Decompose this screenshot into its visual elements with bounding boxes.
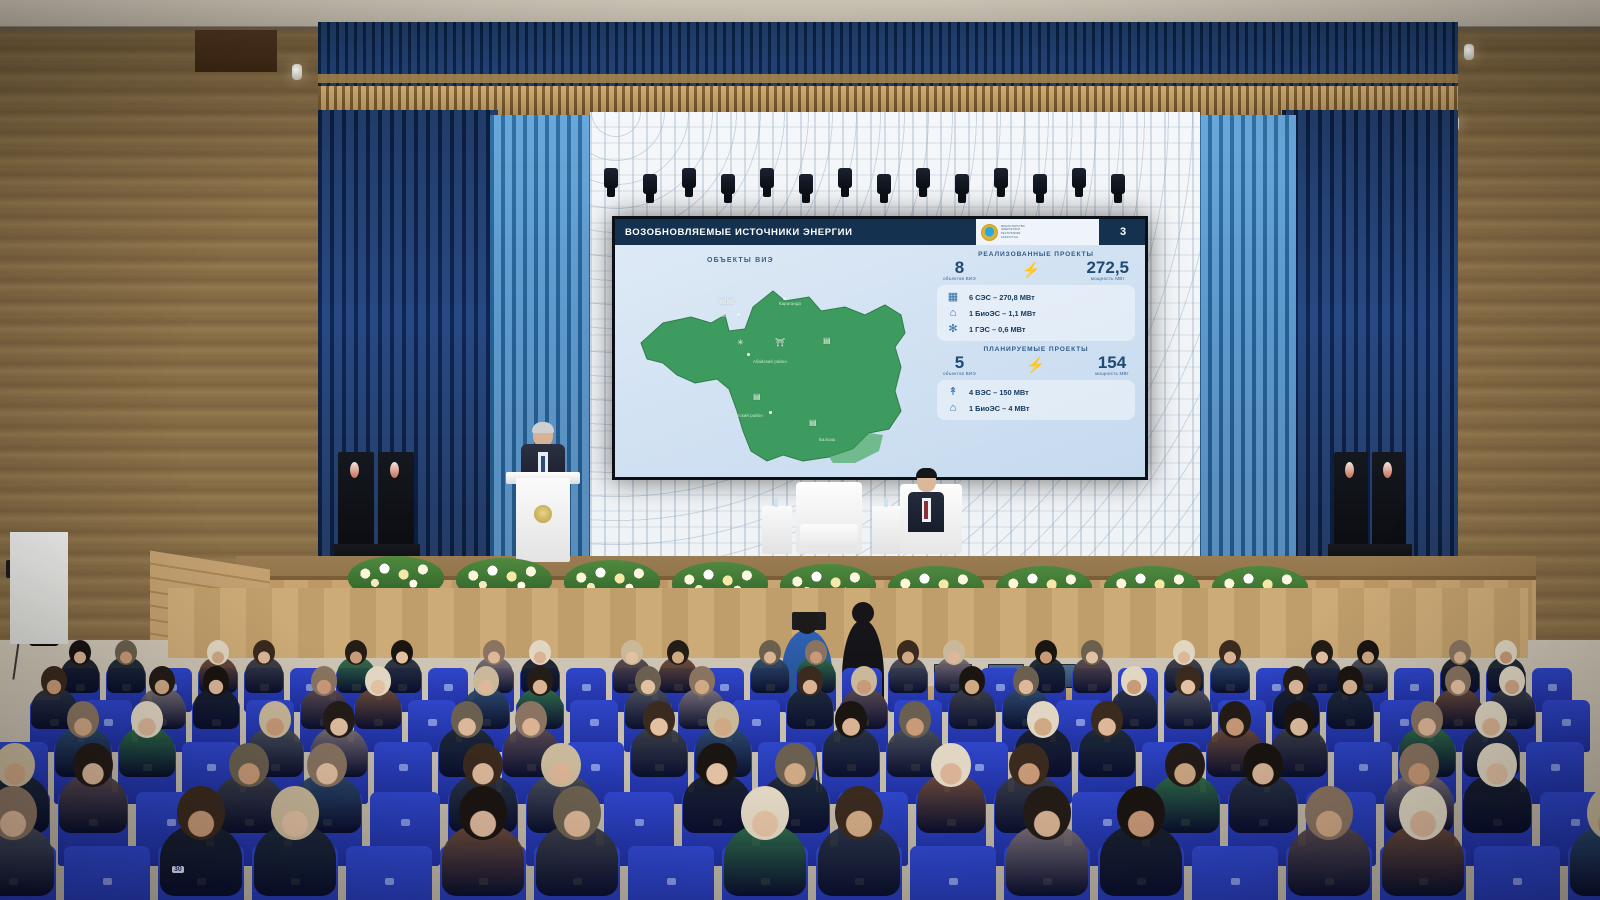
solar-panel-icon: ▤▤ bbox=[719, 297, 734, 305]
curtain-navy-right bbox=[1282, 110, 1458, 580]
stage-light bbox=[760, 168, 774, 188]
audience-member-head bbox=[707, 701, 739, 737]
realized-count: 8 bbox=[943, 259, 976, 276]
audience-member-head bbox=[177, 786, 225, 840]
audience-member-head bbox=[897, 640, 919, 665]
side-table bbox=[872, 506, 902, 554]
audience-member-head bbox=[1035, 640, 1057, 665]
audience-member-head bbox=[1475, 701, 1507, 737]
realized-power-block: 272,5 мощность МВт bbox=[1086, 259, 1129, 281]
audience-member-head bbox=[1357, 640, 1379, 665]
audience-member-head bbox=[253, 640, 275, 665]
bio-plant-icon: ⌂ bbox=[943, 403, 963, 414]
map-label-balkhash: Балхаш bbox=[819, 437, 835, 442]
bio-plant-icon: ⌂ bbox=[943, 308, 963, 319]
planned-count-block: 5 объектов ВИЭ bbox=[943, 354, 976, 376]
led-presentation-screen: ВОЗОБНОВЛЯЕМЫЕ ИСТОЧНИКИ ЭНЕРГИИ МИНИСТЕ… bbox=[612, 216, 1148, 480]
audience-member-head bbox=[323, 701, 355, 737]
solar-flower-icon: ✳ bbox=[737, 339, 744, 347]
stage-light bbox=[955, 174, 969, 194]
realized-count-label: объектов ВИЭ bbox=[943, 276, 976, 281]
audience-member-head bbox=[775, 743, 814, 787]
audience-member-head bbox=[943, 640, 965, 665]
map-city-dot bbox=[737, 313, 740, 316]
planned-count-label: объектов ВИЭ bbox=[943, 371, 976, 376]
planned-row: ⌂ 1 БиоЭС – 4 МВт bbox=[943, 400, 1129, 416]
audience-member-head bbox=[391, 640, 413, 665]
audience-member-head bbox=[529, 640, 551, 665]
hydro-gear-icon: ✻ bbox=[943, 324, 963, 335]
seat-number-badge: 30 bbox=[172, 866, 184, 873]
audience-member-head bbox=[1027, 701, 1059, 737]
stage-light bbox=[682, 168, 696, 188]
audience-member-head bbox=[515, 701, 547, 737]
audience-member-head bbox=[1009, 743, 1048, 787]
realized-power-label: мощность МВт bbox=[1086, 276, 1129, 281]
standing-attendee-head bbox=[852, 602, 874, 624]
audience-member-head bbox=[131, 701, 163, 737]
map-label-shet: Шетский район bbox=[731, 413, 763, 418]
auditorium-seat[interactable] bbox=[628, 846, 714, 900]
audience-member-head bbox=[1173, 640, 1195, 665]
audience-member-head bbox=[69, 640, 91, 665]
projects-panel: РЕАЛИЗОВАННЫЕ ПРОЕКТЫ 8 объектов ВИЭ ⚡ 2… bbox=[937, 251, 1135, 420]
audience-member-head bbox=[307, 743, 346, 787]
audience-member-head bbox=[67, 701, 99, 737]
audience-member-head bbox=[621, 640, 643, 665]
audience-member-head bbox=[899, 701, 931, 737]
audience-member-head bbox=[643, 701, 675, 737]
pa-horn bbox=[350, 462, 359, 478]
water-bottle bbox=[774, 498, 778, 507]
audience-member-head bbox=[1411, 701, 1443, 737]
audience-member-head bbox=[1399, 786, 1447, 840]
planned-row-text: 4 ВЭС – 150 МВт bbox=[969, 388, 1029, 397]
audience-member-head bbox=[1165, 743, 1204, 787]
solar-panel-icon: ▤ bbox=[823, 337, 831, 345]
stage-light bbox=[643, 174, 657, 194]
audience-member-head bbox=[835, 701, 867, 737]
solar-panel-icon: ▤ bbox=[809, 419, 817, 427]
audience-member-head bbox=[553, 786, 601, 840]
lightning-bolt-icon: ⚡ bbox=[1026, 358, 1045, 373]
water-bottle bbox=[884, 498, 888, 507]
audience-member-head bbox=[1495, 640, 1517, 665]
stage-light bbox=[994, 168, 1008, 188]
audience-member-head bbox=[0, 743, 35, 787]
audience-member-head bbox=[483, 640, 505, 665]
audience-member-head bbox=[1219, 701, 1251, 737]
audience-member-head bbox=[1243, 743, 1282, 787]
side-table bbox=[762, 506, 792, 554]
audience-member-head bbox=[207, 640, 229, 665]
audience-member-head bbox=[271, 786, 319, 840]
stage-light bbox=[877, 174, 891, 194]
audience-member-head bbox=[115, 640, 137, 665]
planned-power: 154 bbox=[1095, 354, 1129, 371]
map-label-abay: Абайский район bbox=[753, 359, 787, 364]
audience-member-head bbox=[1219, 640, 1241, 665]
stage-light bbox=[1033, 174, 1047, 194]
map-city-dot bbox=[747, 353, 750, 356]
stage-light bbox=[799, 174, 813, 194]
stage-light bbox=[838, 168, 852, 188]
audience-member-head bbox=[1283, 701, 1315, 737]
stage-light bbox=[1111, 174, 1125, 194]
wind-turbine-icon: ↟ bbox=[943, 387, 963, 398]
audience-member-head bbox=[1399, 743, 1438, 787]
audience-member-head bbox=[229, 743, 268, 787]
audience-member-head bbox=[73, 743, 112, 787]
ministry-block: МИНИСТЕРСТВО ЭНЕРГЕТИКИ РЕСПУБЛИКИ КАЗАХ… bbox=[976, 219, 1099, 245]
stage-light bbox=[721, 174, 735, 194]
realized-heading: РЕАЛИЗОВАННЫЕ ПРОЕКТЫ bbox=[937, 251, 1135, 258]
auditorium-seat[interactable] bbox=[910, 846, 996, 900]
region-map: ▤▤ ✳ ⛩ ▤ ▤ ▤ Сарань Караганда Абайский р… bbox=[633, 271, 933, 466]
map-city-dot bbox=[783, 297, 786, 300]
solar-panel-icon: ▦ bbox=[943, 292, 963, 303]
planned-row-text: 1 БиоЭС – 4 МВт bbox=[969, 404, 1030, 413]
audience-member-head bbox=[931, 743, 970, 787]
slide-number: 3 bbox=[1101, 219, 1145, 245]
map-city-dot bbox=[769, 411, 772, 414]
realized-row: ▦ 6 СЭС – 270,8 МВт bbox=[943, 289, 1129, 305]
audience-member-head bbox=[1311, 640, 1333, 665]
planned-count: 5 bbox=[943, 354, 976, 371]
white-door bbox=[10, 532, 68, 644]
audience-member-head bbox=[1081, 640, 1103, 665]
armchair-seat bbox=[800, 524, 858, 548]
auditorium-seat[interactable] bbox=[64, 846, 150, 900]
valance-gold-trim bbox=[318, 74, 1458, 83]
pa-horn bbox=[390, 462, 399, 478]
kazakhstan-emblem-icon bbox=[981, 224, 998, 241]
hydro-dam-icon: ⛩ bbox=[775, 339, 785, 347]
pa-horn bbox=[1383, 462, 1392, 478]
auditorium-seat[interactable] bbox=[1474, 846, 1560, 900]
planned-heading: ПЛАНИРУЕМЫЕ ПРОЕКТЫ bbox=[937, 346, 1135, 353]
realized-rows: ▦ 6 СЭС – 270,8 МВт ⌂ 1 БиоЭС – 1,1 МВт … bbox=[937, 285, 1135, 341]
gold-state-emblem-icon bbox=[534, 505, 552, 523]
planned-power-label: мощность МВт bbox=[1095, 371, 1129, 376]
realized-row-text: 1 ГЭС – 0,6 МВт bbox=[969, 325, 1026, 334]
curtain-lightblue-right bbox=[1186, 115, 1296, 580]
panelist-tie bbox=[924, 501, 928, 519]
lightning-bolt-icon: ⚡ bbox=[1022, 263, 1041, 278]
realized-row-text: 6 СЭС – 270,8 МВт bbox=[969, 293, 1035, 302]
realized-count-block: 8 объектов ВИЭ bbox=[943, 259, 976, 281]
stage-light bbox=[916, 168, 930, 188]
map-label-karaganda: Караганда bbox=[779, 301, 801, 306]
realized-row-text: 1 БиоЭС – 1,1 МВт bbox=[969, 309, 1036, 318]
stage-light bbox=[1072, 168, 1086, 188]
realized-row: ⌂ 1 БиоЭС – 1,1 МВт bbox=[943, 305, 1129, 321]
realized-row: ✻ 1 ГЭС – 0,6 МВт bbox=[943, 321, 1129, 337]
audience-member-head bbox=[1477, 743, 1516, 787]
audience-member-head bbox=[451, 701, 483, 737]
stage-light bbox=[604, 168, 618, 188]
ministry-text: МИНИСТЕРСТВО ЭНЕРГЕТИКИ РЕСПУБЛИКИ КАЗАХ… bbox=[1001, 225, 1025, 240]
planned-rows: ↟ 4 ВЭС – 150 МВт ⌂ 1 БиоЭС – 4 МВт bbox=[937, 380, 1135, 420]
audience-member-head bbox=[459, 786, 507, 840]
audience-member-head bbox=[1305, 786, 1353, 840]
solar-panel-icon: ▤ bbox=[753, 393, 761, 401]
audience-member-head bbox=[463, 743, 502, 787]
audience-member-head bbox=[541, 743, 580, 787]
auditorium-seat[interactable] bbox=[346, 846, 432, 900]
realized-figures: 8 объектов ВИЭ ⚡ 272,5 мощность МВт bbox=[937, 258, 1135, 281]
planned-row: ↟ 4 ВЭС – 150 МВт bbox=[943, 384, 1129, 400]
audience-member-head bbox=[1117, 786, 1165, 840]
realized-power: 272,5 bbox=[1086, 259, 1129, 276]
slide-content: ВОЗОБНОВЛЯЕМЫЕ ИСТОЧНИКИ ЭНЕРГИИ МИНИСТЕ… bbox=[615, 219, 1145, 477]
planned-figures: 5 объектов ВИЭ ⚡ 154 мощность МВт bbox=[937, 353, 1135, 376]
audience-member-head bbox=[259, 701, 291, 737]
wall-light bbox=[292, 64, 302, 80]
wall-light bbox=[1464, 44, 1474, 60]
wall-accent-panel bbox=[195, 30, 277, 72]
audience-member-head bbox=[759, 640, 781, 665]
planned-power-block: 154 мощность МВт bbox=[1095, 354, 1129, 376]
slide-title: ВОЗОБНОВЛЯЕМЫЕ ИСТОЧНИКИ ЭНЕРГИИ bbox=[615, 227, 853, 238]
ministry-line: КАЗАХСТАН bbox=[1001, 236, 1025, 240]
audience-member-head bbox=[697, 743, 736, 787]
conference-hall-photo: ВОЗОБНОВЛЯЕМЫЕ ИСТОЧНИКИ ЭНЕРГИИ МИНИСТЕ… bbox=[0, 0, 1600, 900]
audience-member-head bbox=[805, 640, 827, 665]
map-heading: ОБЪЕКТЫ ВИЭ bbox=[707, 257, 774, 264]
auditorium-seat[interactable] bbox=[1192, 846, 1278, 900]
audience-member-head bbox=[1091, 701, 1123, 737]
audience-member-head bbox=[741, 786, 789, 840]
slide-header-bar: ВОЗОБНОВЛЯЕМЫЕ ИСТОЧНИКИ ЭНЕРГИИ МИНИСТЕ… bbox=[615, 219, 1145, 245]
audience-member-head bbox=[1023, 786, 1071, 840]
audience-member-head bbox=[345, 640, 367, 665]
presenter-hair bbox=[532, 422, 554, 433]
panelist-hair bbox=[916, 468, 937, 478]
audience-member-head bbox=[835, 786, 883, 840]
map-label-saran: Сарань bbox=[711, 313, 727, 318]
audience-member-head bbox=[667, 640, 689, 665]
audience-member-head bbox=[1449, 640, 1471, 665]
pa-horn bbox=[1345, 462, 1354, 478]
camera-operator-head bbox=[796, 612, 818, 634]
